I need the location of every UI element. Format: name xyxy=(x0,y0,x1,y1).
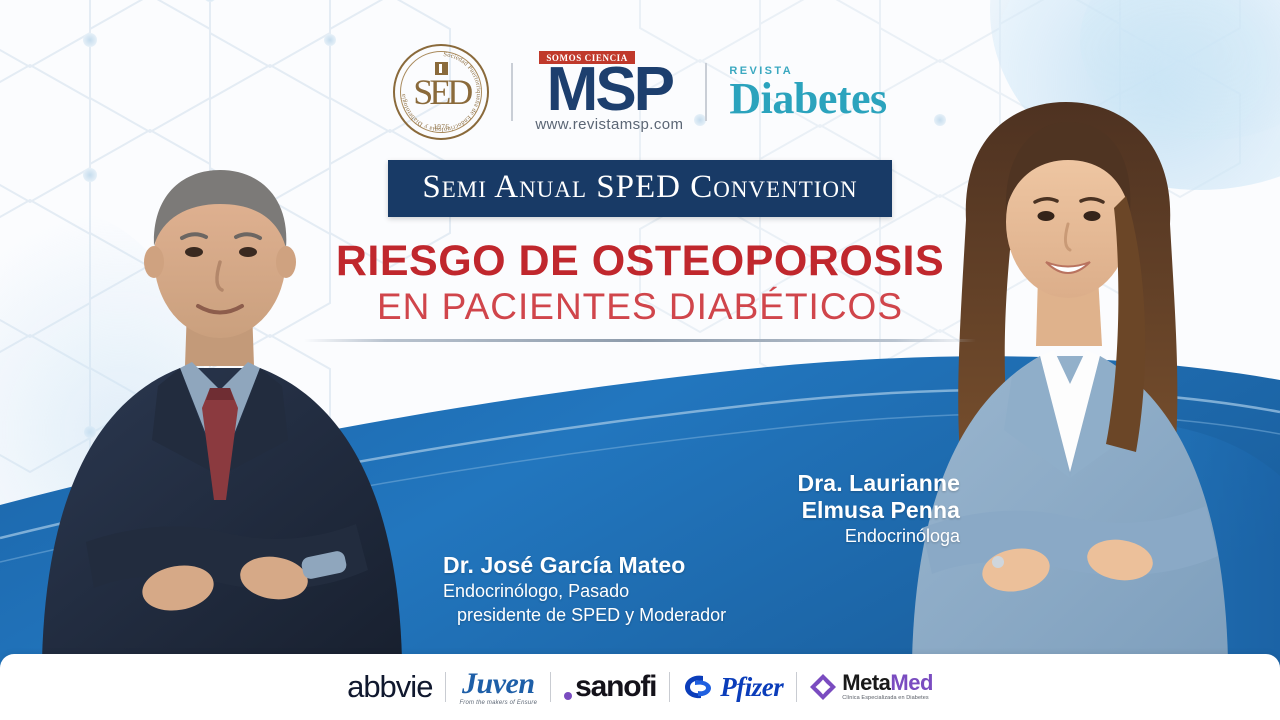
speaker-caption-right: Dra. Laurianne Elmusa Penna Endocrinólog… xyxy=(798,470,960,548)
juven-wordmark: Juven xyxy=(462,669,535,699)
event-banner-text: Semi Anual SPED Convention xyxy=(422,169,857,206)
speaker-right-name-line1: Dra. Laurianne xyxy=(798,470,960,497)
sanofi-wordmark: sanofi xyxy=(575,670,656,704)
msp-website-url[interactable]: www.revistamsp.com xyxy=(535,116,683,133)
revista-diabetes-logo: REVISTA Diabetes xyxy=(729,65,886,120)
sponsor-bar: abbvie Juven From the makers of Ensure s… xyxy=(0,654,1280,720)
msp-letter-p: P xyxy=(634,65,672,115)
metamed-text: MetaMed Clínica Especializada en Diabete… xyxy=(842,672,933,702)
juven-tagline: From the makers of Ensure xyxy=(459,700,537,706)
sped-year: 1976 xyxy=(393,123,489,131)
sponsor-abbvie[interactable]: abbvie xyxy=(347,669,432,705)
sponsor-divider-1 xyxy=(445,672,446,702)
speaker-left-role-line1: Endocrinólogo, Pasado xyxy=(443,581,726,603)
speaker-right-role: Endocrinóloga xyxy=(798,526,960,548)
msp-letter-s: S xyxy=(595,65,633,115)
speaker-right-name-line2: Elmusa Penna xyxy=(798,497,960,524)
msp-letter-m: M xyxy=(547,65,596,115)
sponsor-sanofi[interactable]: sanofi xyxy=(564,670,656,704)
msp-logo: SOMOS CIENCIA M S P www.revistamsp.com xyxy=(535,51,683,133)
presentation-slide: Sociedad Puertorriqueña de Endocrinologí… xyxy=(0,0,1280,720)
metamed-wordmark-meta: Meta xyxy=(842,670,890,695)
headline: RIESGO DE OSTEOPOROSIS xyxy=(0,239,1280,284)
logo-divider-1 xyxy=(511,63,513,121)
title-block: Semi Anual SPED Convention RIESGO DE OST… xyxy=(0,160,1280,342)
metamed-tagline: Clínica Especializada en Diabetes xyxy=(842,696,933,702)
pfizer-wordmark: Pfizer xyxy=(720,672,783,703)
title-divider-rule xyxy=(304,339,976,342)
sponsor-divider-3 xyxy=(669,672,670,702)
subheadline: EN PACIENTES DIABÉTICOS xyxy=(0,288,1280,327)
metamed-diamond-icon xyxy=(810,674,836,700)
sponsor-divider-2 xyxy=(550,672,551,702)
logo-bar: Sociedad Puertorriqueña de Endocrinologí… xyxy=(0,42,1280,142)
sped-logo: Sociedad Puertorriqueña de Endocrinologí… xyxy=(393,44,489,140)
abbvie-wordmark: abbvie xyxy=(347,669,432,705)
speaker-caption-left: Dr. José García Mateo Endocrinólogo, Pas… xyxy=(443,552,726,626)
metamed-wordmark-med: Med xyxy=(890,670,933,695)
sponsor-metamed[interactable]: MetaMed Clínica Especializada en Diabete… xyxy=(810,672,933,702)
event-banner: Semi Anual SPED Convention xyxy=(388,160,891,217)
speaker-left-name: Dr. José García Mateo xyxy=(443,552,726,579)
sponsor-pfizer[interactable]: Pfizer xyxy=(683,672,783,703)
sponsor-divider-4 xyxy=(796,672,797,702)
msp-lettermark: M S P xyxy=(547,65,672,115)
sponsor-juven[interactable]: Juven From the makers of Ensure xyxy=(459,669,537,706)
logo-divider-2 xyxy=(705,63,707,121)
pfizer-swirl-icon xyxy=(683,674,715,700)
diabetes-wordmark: Diabetes xyxy=(729,78,886,120)
speaker-left-role-line2: presidente de SPED y Moderador xyxy=(443,605,726,627)
sanofi-dot-icon xyxy=(564,692,572,700)
